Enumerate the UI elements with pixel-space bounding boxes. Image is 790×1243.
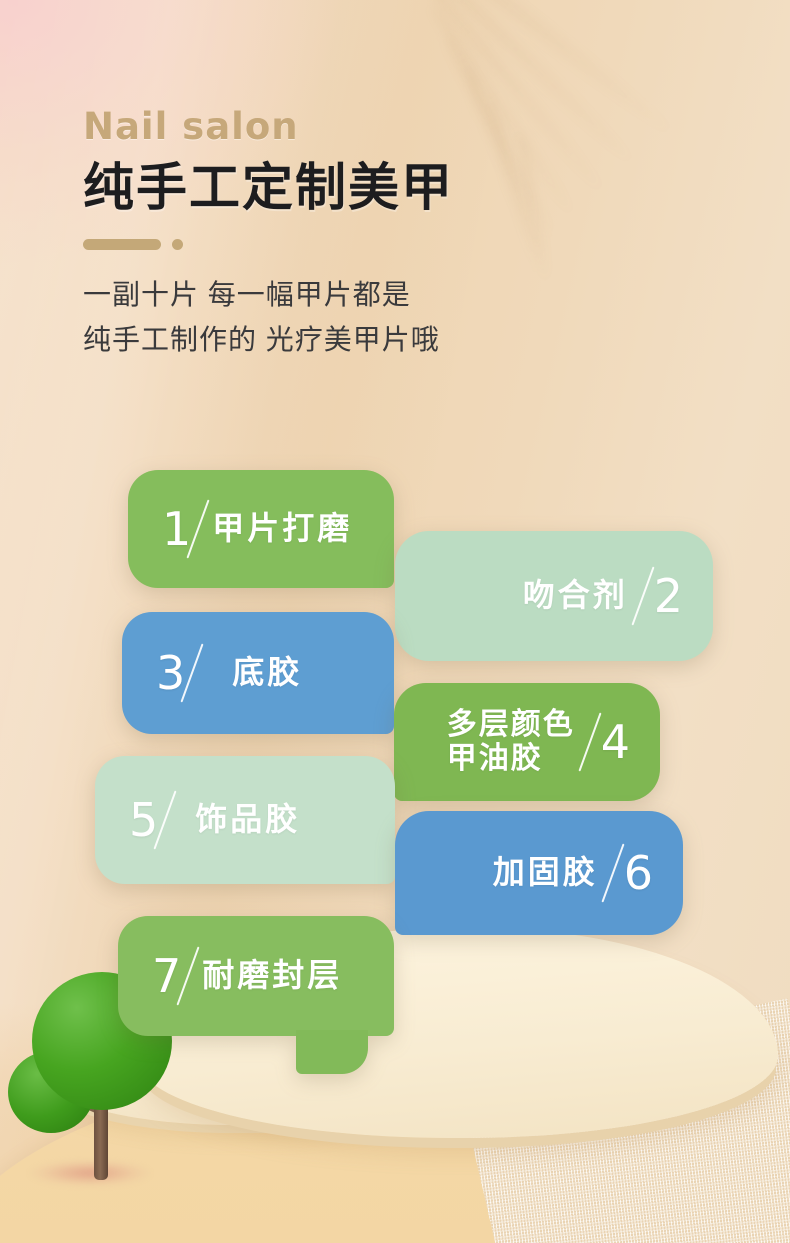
step-number-1: 1 (162, 506, 191, 552)
step-label-2: 吻合剂 (523, 578, 628, 614)
step-card-4[interactable]: 多层颜色 甲油胶 4 (394, 683, 660, 801)
step-label-6: 加固胶 (493, 855, 598, 891)
step-label-7: 耐磨封层 (202, 958, 342, 994)
steps-list: 1 甲片打磨 吻合剂 2 3 底胶 多层颜色 甲油胶 (0, 0, 790, 1243)
step-label-3: 底胶 (232, 655, 302, 691)
step-number-4: 4 (601, 719, 630, 765)
step-number-7: 7 (152, 953, 181, 999)
slash-icon (601, 844, 624, 903)
step-number-3: 3 (156, 650, 185, 696)
step-label-4: 多层颜色 甲油胶 (447, 708, 575, 775)
step-number-6: 6 (624, 850, 653, 896)
step-label-5: 饰品胶 (195, 802, 300, 838)
step-card-5[interactable]: 5 饰品胶 (95, 756, 395, 884)
step-card-2[interactable]: 吻合剂 2 (395, 531, 713, 661)
step-label-1: 甲片打磨 (212, 511, 352, 547)
step-number-2: 2 (654, 573, 683, 619)
poster-canvas: Nail salon 纯手工定制美甲 一副十片 每一幅甲片都是 纯手工制作的 光… (0, 0, 790, 1243)
step-card-6[interactable]: 加固胶 6 (395, 811, 683, 935)
slash-icon (631, 567, 654, 626)
step-card-3[interactable]: 3 底胶 (122, 612, 394, 734)
step-label-4-line-1: 多层颜色 (447, 708, 575, 742)
step-card-1[interactable]: 1 甲片打磨 (128, 470, 394, 588)
step-number-5: 5 (129, 797, 158, 843)
slash-icon (578, 713, 601, 772)
step-card-7[interactable]: 7 耐磨封层 (118, 916, 394, 1036)
step-label-4-line-2: 甲油胶 (447, 742, 575, 776)
